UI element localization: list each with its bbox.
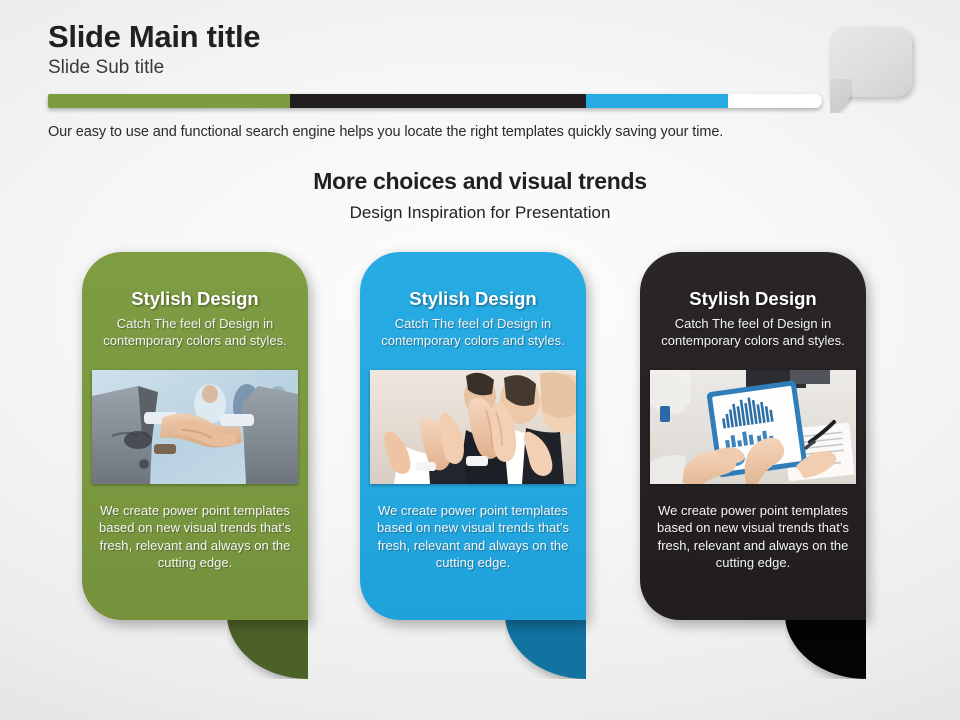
card-group: Stylish Design Catch The feel of Design … xyxy=(0,0,960,720)
card-subtitle: Catch The feel of Design in contemporary… xyxy=(92,316,298,349)
card-tail-blue xyxy=(505,617,586,679)
card-body-blue: Stylish Design Catch The feel of Design … xyxy=(360,252,586,620)
card-stylish-design-blue[interactable]: Stylish Design Catch The feel of Design … xyxy=(360,252,586,620)
card-tail-green xyxy=(227,617,308,679)
card-stylish-design-green[interactable]: Stylish Design Catch The feel of Design … xyxy=(82,252,308,620)
slide-canvas: Slide Main title Slide Sub title Our eas… xyxy=(0,0,960,720)
audience-applause-photo xyxy=(370,370,576,484)
card-subtitle: Catch The feel of Design in contemporary… xyxy=(370,316,576,349)
tablet-chart-review-photo xyxy=(650,370,856,484)
card-body-text: We create power point templates based on… xyxy=(88,502,302,571)
card-tail-dark xyxy=(785,617,866,679)
card-stylish-design-dark[interactable]: Stylish Design Catch The feel of Design … xyxy=(640,252,866,620)
business-handshake-photo xyxy=(92,370,298,484)
card-title: Stylish Design xyxy=(82,288,308,310)
card-body-text: We create power point templates based on… xyxy=(646,502,860,571)
card-title: Stylish Design xyxy=(360,288,586,310)
card-subtitle: Catch The feel of Design in contemporary… xyxy=(650,316,856,349)
card-title: Stylish Design xyxy=(640,288,866,310)
card-body-dark: Stylish Design Catch The feel of Design … xyxy=(640,252,866,620)
card-body-text: We create power point templates based on… xyxy=(366,502,580,571)
card-body-green: Stylish Design Catch The feel of Design … xyxy=(82,252,308,620)
